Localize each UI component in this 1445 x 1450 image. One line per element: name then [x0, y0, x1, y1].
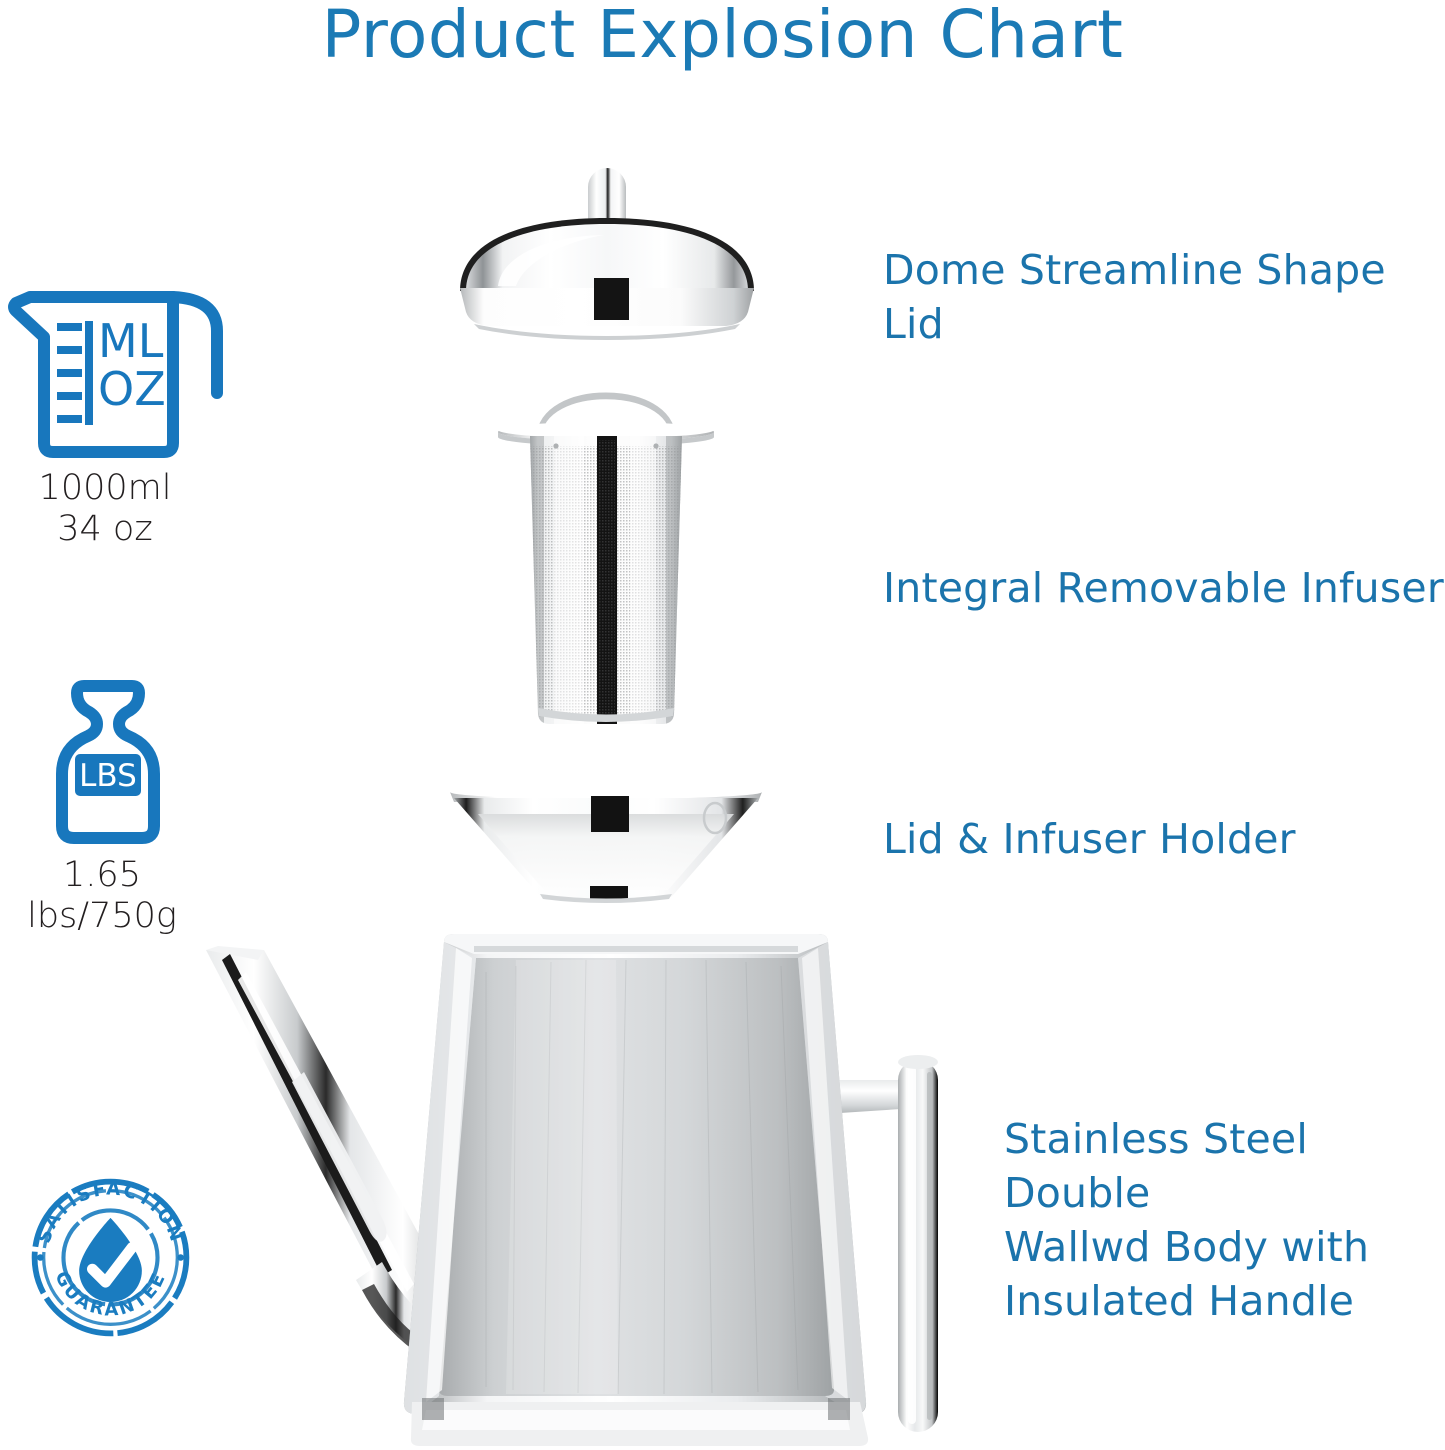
teapot-body-frame	[404, 934, 868, 1446]
page-title: Product Explosion Chart	[0, 0, 1445, 73]
callout-dome-streamline-shape-lid: Dome Streamline Shape Lid	[883, 243, 1445, 351]
callout-stainless-steel-double-walled-body: Stainless Steel Double Wallwd Body with …	[1004, 1112, 1445, 1328]
badge-dot-right	[177, 1254, 184, 1261]
callout-integral-removable-infuser: Integral Removable Infuser	[883, 561, 1444, 615]
infographic-canvas: Product Explosion Chart ML OZ 1000ml 34 …	[0, 0, 1445, 1450]
weight-caption: 1.65 lbs/750g	[0, 855, 212, 938]
teapot-body-image	[186, 932, 986, 1450]
weight-icon-lbs-label: LBS	[79, 758, 137, 794]
droplet-check-icon	[79, 1218, 142, 1302]
callout-lid-and-infuser-holder: Lid & Infuser Holder	[883, 812, 1296, 866]
badge-dot-left	[37, 1254, 44, 1261]
jug-icon-oz-label: OZ	[98, 362, 166, 416]
jug-icon-ml-label: ML	[98, 314, 164, 368]
satisfaction-guarantee-badge: SATISFACTION GUARANTEE	[28, 1175, 193, 1340]
funnel-holder-image	[448, 778, 764, 918]
measuring-jug-icon: ML OZ	[10, 275, 225, 460]
mesh-infuser-image	[494, 370, 718, 730]
teapot-spout	[206, 946, 446, 1352]
weight-block-icon: LBS	[38, 676, 178, 848]
capacity-caption: 1000ml 34 oz	[0, 468, 210, 551]
dome-lid-image	[452, 160, 762, 335]
